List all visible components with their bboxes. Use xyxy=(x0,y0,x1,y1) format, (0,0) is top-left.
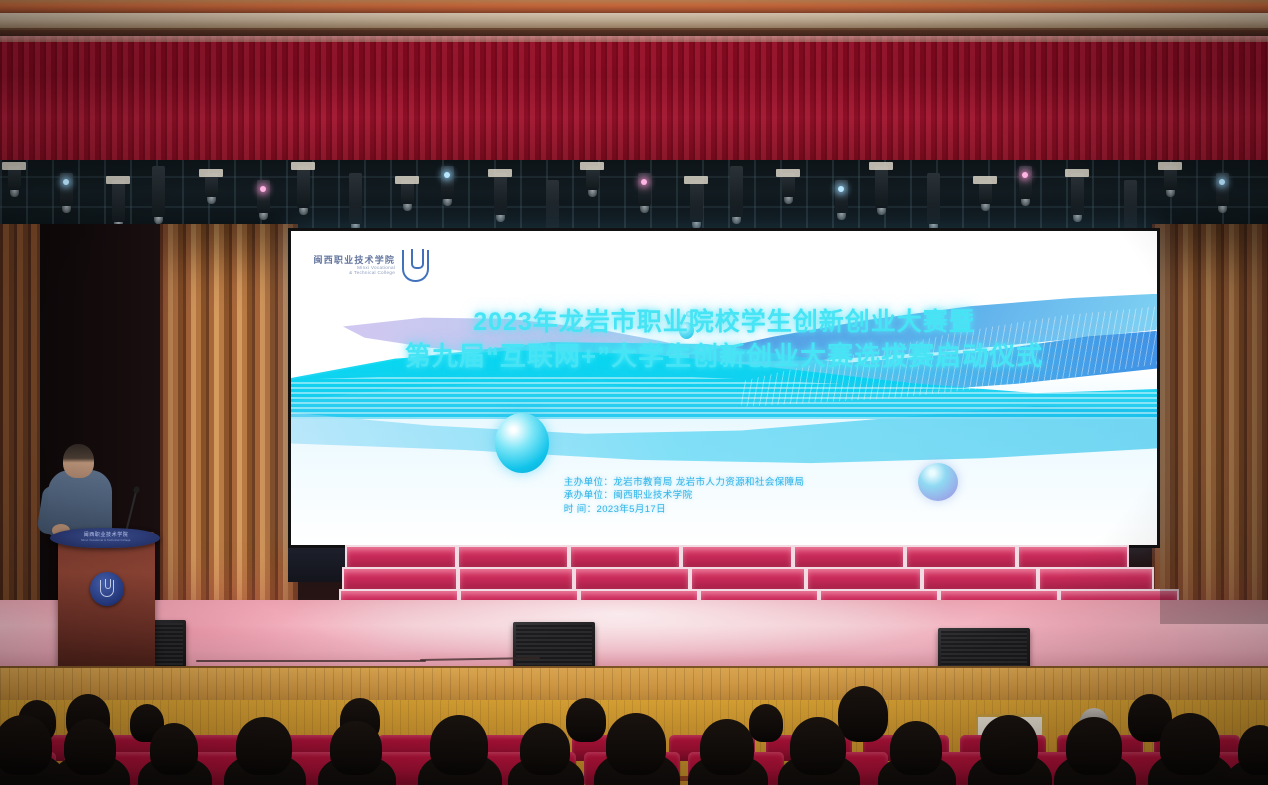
audience-head xyxy=(236,717,292,775)
stage-lamp xyxy=(152,166,165,219)
stage-floor xyxy=(0,600,1268,672)
lamp-mount-bar xyxy=(973,176,997,184)
u-logo-icon xyxy=(100,580,114,597)
event-title-line-2: 第九届“互联网+”大学生创新创业大赛选拔赛启动仪式 xyxy=(291,336,1157,373)
stage-monitor-center xyxy=(513,622,595,668)
lamp-mount-bar xyxy=(1158,162,1182,170)
led-screen: 闽西职业技术学院 Minxi Vocational & Technical Co… xyxy=(291,231,1157,545)
podium-name-plate: 闽西职业技术学院 Minxi Vocational & Technical Co… xyxy=(70,533,142,542)
audience-head xyxy=(700,719,754,775)
riser-unit xyxy=(681,545,793,569)
audience-head xyxy=(980,715,1038,775)
credits-host: 承办单位：闽西职业技术学院 xyxy=(564,489,805,502)
riser-unit xyxy=(457,545,569,569)
lamp-mount-bar xyxy=(2,162,26,170)
riser-unit xyxy=(793,545,905,569)
audience-head xyxy=(1066,717,1122,775)
sphere-violet xyxy=(918,463,958,501)
riser-row-middle xyxy=(342,567,1154,591)
audience-head xyxy=(64,719,116,775)
stage-lamp xyxy=(875,166,888,210)
lamp-mount-bar xyxy=(291,162,315,170)
lamp-mount-bar xyxy=(199,169,223,177)
lamp-mount-bar xyxy=(580,162,604,170)
led-screen-frame: 闽西职业技术学院 Minxi Vocational & Technical Co… xyxy=(288,228,1160,548)
riser-unit xyxy=(342,567,458,591)
lamp-mount-bar xyxy=(395,176,419,184)
lamp-mount-bar xyxy=(869,162,893,170)
riser-unit xyxy=(806,567,922,591)
sphere-large-cyan xyxy=(495,413,549,473)
screen-logo-en-2: & Technical College xyxy=(314,271,396,276)
audience-head xyxy=(838,686,888,742)
riser-unit xyxy=(574,567,690,591)
riser-unit xyxy=(905,545,1017,569)
audience-head xyxy=(150,723,198,775)
credits-date: 时 间：2023年5月17日 xyxy=(564,503,805,516)
credits-organizer: 主办单位：龙岩市教育局 龙岩市人力资源和社会保障局 xyxy=(564,476,805,489)
valance-top-highlight xyxy=(0,36,1268,42)
riser-unit xyxy=(1038,567,1154,591)
audience-head xyxy=(890,721,942,775)
podium-plate-en: Minxi Vocational & Technical College xyxy=(70,538,142,543)
screen-logo-text: 闽西职业技术学院 Minxi Vocational & Technical Co… xyxy=(314,256,396,275)
lamp-mount-bar xyxy=(1065,169,1089,177)
riser-unit xyxy=(1017,545,1129,569)
monitor-grille xyxy=(941,631,1027,671)
stage-lamp xyxy=(297,166,310,210)
riser-unit xyxy=(345,545,457,569)
riser-unit xyxy=(569,545,681,569)
u-logo-icon xyxy=(402,250,429,282)
stage-lamp xyxy=(1071,173,1084,217)
presenter-head xyxy=(63,444,94,478)
stage-lamp xyxy=(690,180,703,224)
lamp-glow xyxy=(838,186,844,192)
audience-head xyxy=(566,698,606,742)
stage-lamp xyxy=(494,173,507,217)
lamp-mount-bar xyxy=(106,176,130,184)
stage-lamp xyxy=(112,180,125,224)
screen-college-logo: 闽西职业技术学院 Minxi Vocational & Technical Co… xyxy=(314,250,430,282)
lamp-mount-bar xyxy=(488,169,512,177)
ceiling-strip xyxy=(0,0,1268,14)
lamp-mount-bar xyxy=(776,169,800,177)
red-stage-valance xyxy=(0,36,1268,168)
audience-head xyxy=(1238,725,1268,775)
audience-head xyxy=(330,721,382,775)
riser-row-back xyxy=(345,545,1129,569)
stage-lamp xyxy=(927,173,940,226)
stage-right-mask xyxy=(1160,224,1268,624)
stage-lamp xyxy=(730,166,743,219)
stage-lamp xyxy=(546,180,559,233)
audience-head xyxy=(606,713,666,775)
event-title-line-1: 2023年龙岩市职业院校学生创新创业大赛暨 xyxy=(291,302,1157,338)
riser-unit xyxy=(690,567,806,591)
left-gold-curtain xyxy=(160,224,298,614)
auditorium-scene: 闽西职业技术学院 Minxi Vocational & Technical Co… xyxy=(0,0,1268,785)
audience-head xyxy=(520,723,570,775)
lamp-glow xyxy=(1219,179,1225,185)
podium-emblem-icon xyxy=(90,572,124,606)
audience-head xyxy=(790,717,846,775)
cornice-molding xyxy=(0,13,1268,30)
event-credits: 主办单位：龙岩市教育局 龙岩市人力资源和社会保障局 承办单位：闽西职业技术学院 … xyxy=(564,476,805,516)
riser-unit xyxy=(458,567,574,591)
stage-lamp xyxy=(1124,180,1137,233)
audience-head xyxy=(430,715,488,775)
audience-head xyxy=(749,704,783,742)
riser-unit xyxy=(922,567,1038,591)
lamp-mount-bar xyxy=(684,176,708,184)
lamp-glow xyxy=(641,179,647,185)
audience-head xyxy=(0,715,52,775)
stage-lamp xyxy=(349,173,362,226)
audience-head xyxy=(1160,713,1220,775)
stage-cable-1 xyxy=(196,660,426,662)
lamp-glow xyxy=(260,186,266,192)
far-left-curtain xyxy=(0,224,40,614)
